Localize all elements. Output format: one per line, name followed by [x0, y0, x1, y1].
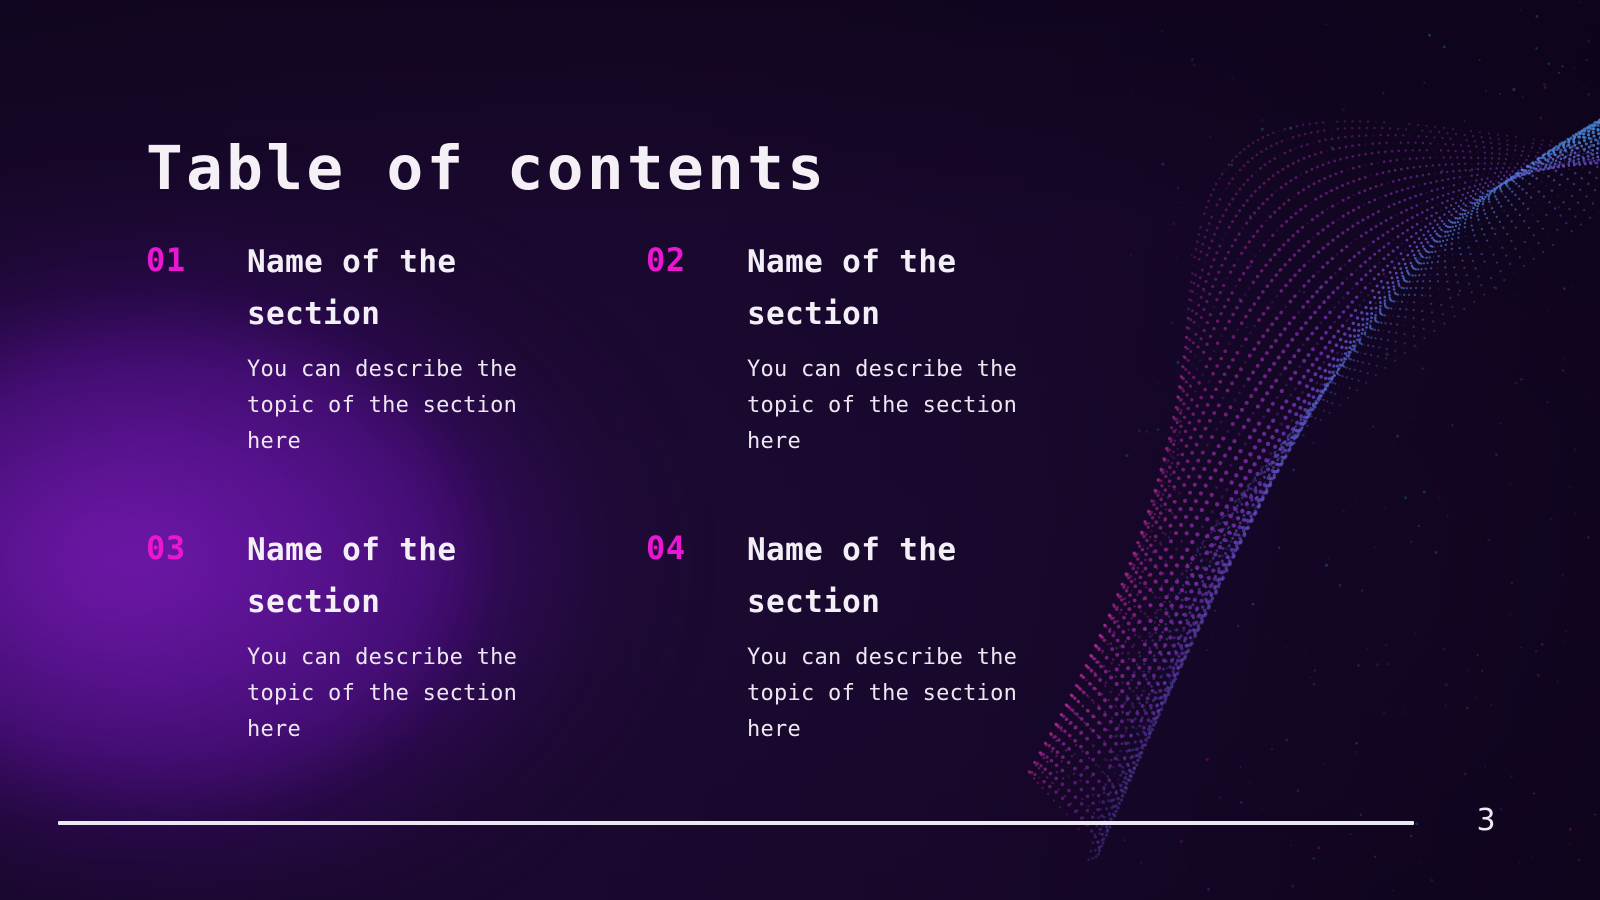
contents-row-2: 03 Name of the section You can describe …	[0, 524, 1100, 812]
section-body-03: Name of the section You can describe the…	[247, 524, 566, 748]
page-number: 3	[1466, 802, 1506, 840]
section-description-02: You can describe the topic of the sectio…	[747, 352, 1057, 460]
section-heading-01: Name of the section	[247, 236, 566, 340]
contents-item-01[interactable]: 01 Name of the section You can describe …	[146, 236, 566, 460]
contents-item-02[interactable]: 02 Name of the section You can describe …	[646, 236, 1066, 460]
contents-row-1: 01 Name of the section You can describe …	[0, 236, 1100, 524]
contents-grid: 01 Name of the section You can describe …	[0, 236, 1100, 812]
section-body-02: Name of the section You can describe the…	[747, 236, 1066, 460]
section-number-04: 04	[646, 532, 686, 564]
contents-item-03[interactable]: 03 Name of the section You can describe …	[146, 524, 566, 748]
section-heading-04: Name of the section	[747, 524, 1066, 628]
section-heading-02: Name of the section	[747, 236, 1066, 340]
section-body-01: Name of the section You can describe the…	[247, 236, 566, 460]
section-description-01: You can describe the topic of the sectio…	[247, 352, 557, 460]
slide-canvas: Table of contents 01 Name of the section…	[0, 0, 1600, 900]
section-body-04: Name of the section You can describe the…	[747, 524, 1066, 748]
section-number-03: 03	[146, 532, 186, 564]
section-heading-03: Name of the section	[247, 524, 566, 628]
section-description-04: You can describe the topic of the sectio…	[747, 640, 1057, 748]
contents-item-04[interactable]: 04 Name of the section You can describe …	[646, 524, 1066, 748]
section-number-02: 02	[646, 244, 686, 276]
section-number-01: 01	[146, 244, 186, 276]
footer-divider	[58, 821, 1414, 825]
section-description-03: You can describe the topic of the sectio…	[247, 640, 557, 748]
page-title: Table of contents	[146, 134, 827, 204]
